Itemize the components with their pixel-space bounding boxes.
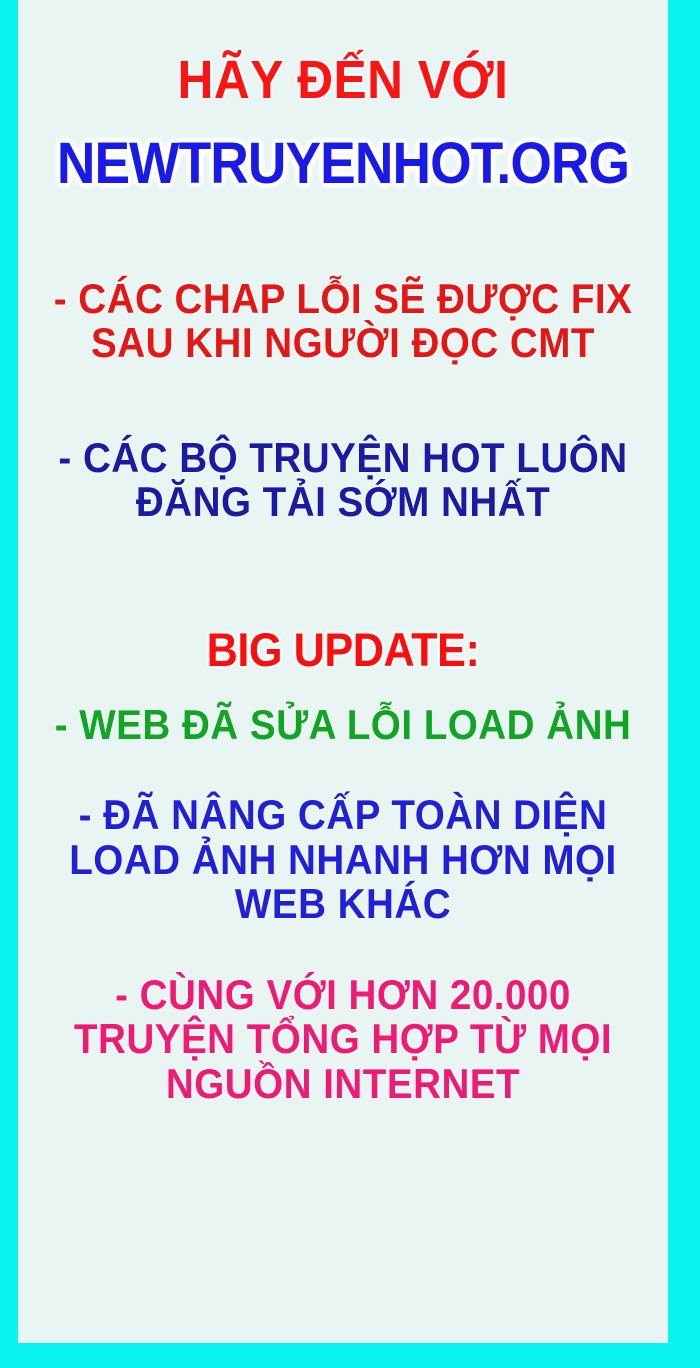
block-hot-truyen-line-2: ĐĂNG TẢI SỚM NHẤT xyxy=(44,480,642,525)
block-hot-truyen-line-1: - CÁC BỘ TRUYỆN HOT LUÔN xyxy=(44,436,642,481)
block-truyen-count: - CÙNG VỚI HƠN 20.000 TRUYỆN TỔNG HỢP TỪ… xyxy=(18,973,668,1107)
block-nang-cap-line-2: LOAD ẢNH NHANH HƠN MỌI xyxy=(44,838,642,883)
block-nang-cap-line-3: WEB KHÁC xyxy=(44,882,642,927)
block-truyen-count-line-1: - CÙNG VỚI HƠN 20.000 xyxy=(44,973,642,1018)
block-hot-truyen: - CÁC BỘ TRUYỆN HOT LUÔN ĐĂNG TẢI SỚM NH… xyxy=(18,436,668,525)
block-big-update-heading: BIG UPDATE: xyxy=(18,625,668,675)
poster-inner-panel: HÃY ĐẾN VỚI NEWTRUYENHOT.ORG - CÁC CHAP … xyxy=(18,0,668,1343)
headline-line-1: HÃY ĐẾN VỚI xyxy=(44,52,642,109)
block-fix-load-anh-line-1: - WEB ĐÃ SỬA LỖI LOAD ẢNH xyxy=(44,703,642,748)
block-truyen-count-line-3: NGUỒN INTERNET xyxy=(44,1062,642,1107)
big-update-heading-text: BIG UPDATE: xyxy=(44,625,642,675)
block-chap-fix: - CÁC CHAP LỖI SẼ ĐƯỢC FIX SAU KHI NGƯỜI… xyxy=(18,277,668,366)
block-chap-fix-line-2: SAU KHI NGƯỜI ĐỌC CMT xyxy=(44,321,642,366)
block-nang-cap-line-1: - ĐÃ NÂNG CẤP TOÀN DIỆN xyxy=(44,793,642,838)
promo-poster: HÃY ĐẾN VỚI NEWTRUYENHOT.ORG - CÁC CHAP … xyxy=(0,0,700,1368)
block-nang-cap: - ĐÃ NÂNG CẤP TOÀN DIỆN LOAD ẢNH NHANH H… xyxy=(18,793,668,927)
block-truyen-count-line-2: TRUYỆN TỔNG HỢP TỪ MỌI xyxy=(44,1017,642,1062)
headline-site-name[interactable]: NEWTRUYENHOT.ORG xyxy=(44,133,642,194)
block-chap-fix-line-1: - CÁC CHAP LỖI SẼ ĐƯỢC FIX xyxy=(44,277,642,322)
block-fix-load-anh: - WEB ĐÃ SỬA LỖI LOAD ẢNH xyxy=(18,703,668,748)
